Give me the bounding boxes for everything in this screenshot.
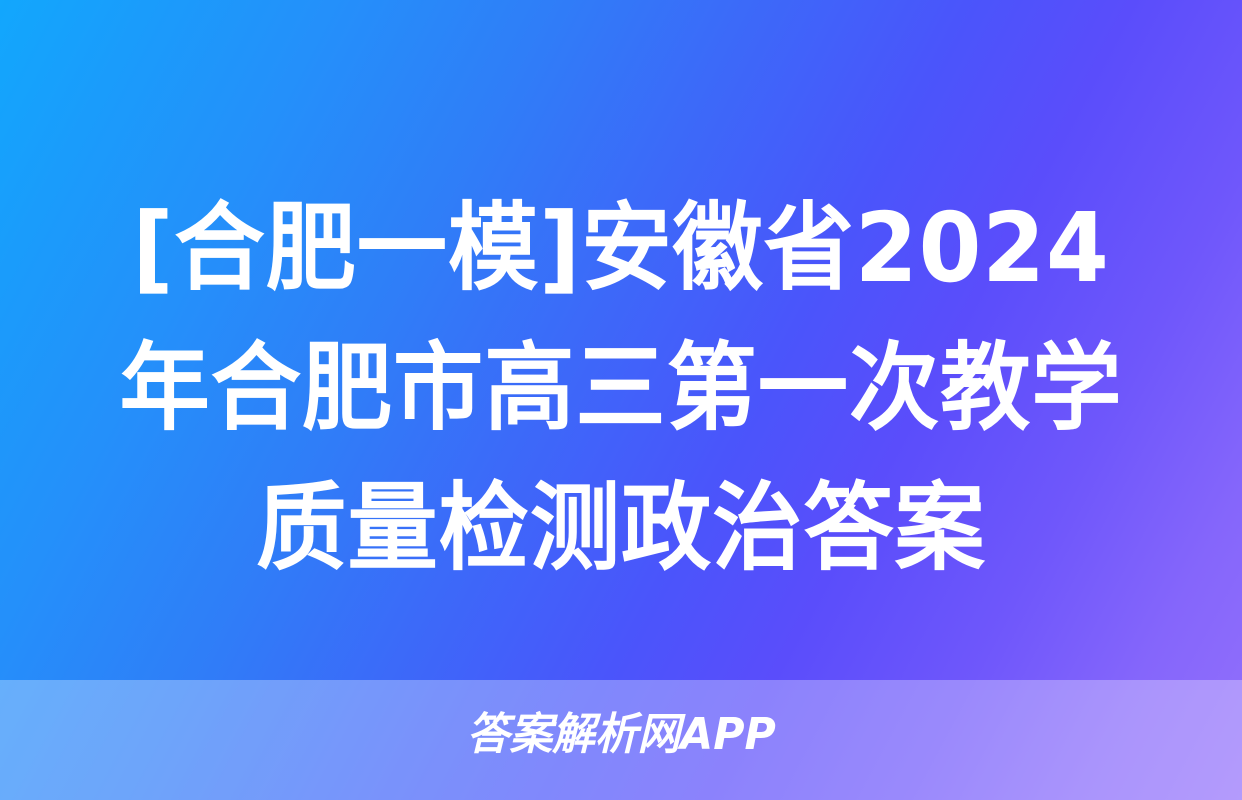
watermark-label: 答案解析网APP (466, 713, 775, 757)
title-line-1: [合肥一模]安徽省2024 (75, 178, 1167, 318)
watermark: 答案解析网APP (0, 703, 1242, 767)
title-line-3: 质量检测政治答案 (75, 458, 1167, 598)
page-title: [合肥一模]安徽省2024 年合肥市高三第一次教学 质量检测政治答案 (0, 178, 1242, 598)
poster-canvas: [合肥一模]安徽省2024 年合肥市高三第一次教学 质量检测政治答案 答案解析网… (0, 0, 1242, 800)
title-line-2: 年合肥市高三第一次教学 (75, 318, 1167, 458)
